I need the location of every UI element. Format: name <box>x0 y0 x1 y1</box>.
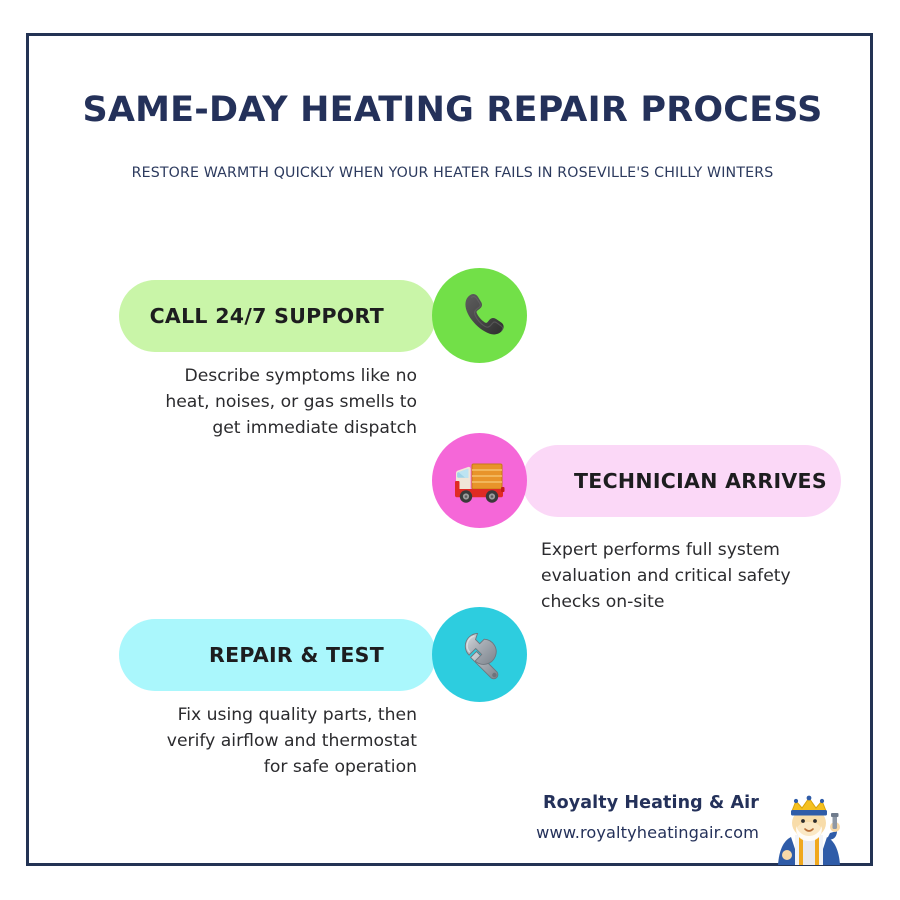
infographic-frame: SAME-DAY HEATING REPAIR PROCESS RESTORE … <box>26 33 873 866</box>
wrench-icon <box>452 627 508 683</box>
infographic-canvas: SAME-DAY HEATING REPAIR PROCESS RESTORE … <box>0 0 900 900</box>
step-3-icon-circle[interactable] <box>432 607 527 702</box>
king-mascot-logo <box>769 793 849 875</box>
step-2-icon-circle[interactable] <box>432 433 527 528</box>
page-title: SAME-DAY HEATING REPAIR PROCESS <box>29 90 876 130</box>
page-subtitle: RESTORE WARMTH QUICKLY WHEN YOUR HEATER … <box>29 165 876 181</box>
step-2-description: Expert performs full system evaluation a… <box>541 537 881 615</box>
telephone-receiver-icon <box>452 288 508 344</box>
step-3-label: REPAIR & TEST <box>209 643 384 667</box>
step-2-pill[interactable]: TECHNICIAN ARRIVES <box>522 445 841 517</box>
brand-name: Royalty Heating & Air <box>536 793 759 813</box>
step-1-icon-circle[interactable] <box>432 268 527 363</box>
brand-url[interactable]: www.royaltyheatingair.com <box>536 823 759 842</box>
step-1-label: CALL 24/7 SUPPORT <box>150 304 384 328</box>
delivery-truck-icon <box>451 457 509 505</box>
step-3-pill[interactable]: REPAIR & TEST <box>119 619 436 691</box>
step-1-pill[interactable]: CALL 24/7 SUPPORT <box>119 280 436 352</box>
footer-text-block: Royalty Heating & Air www.royaltyheating… <box>536 793 759 842</box>
step-2-label: TECHNICIAN ARRIVES <box>574 469 827 493</box>
footer-branding: Royalty Heating & Air www.royaltyheating… <box>459 793 849 879</box>
step-1-description: Describe symptoms like no heat, noises, … <box>77 363 417 441</box>
step-3-description: Fix using quality parts, then verify air… <box>77 702 417 780</box>
